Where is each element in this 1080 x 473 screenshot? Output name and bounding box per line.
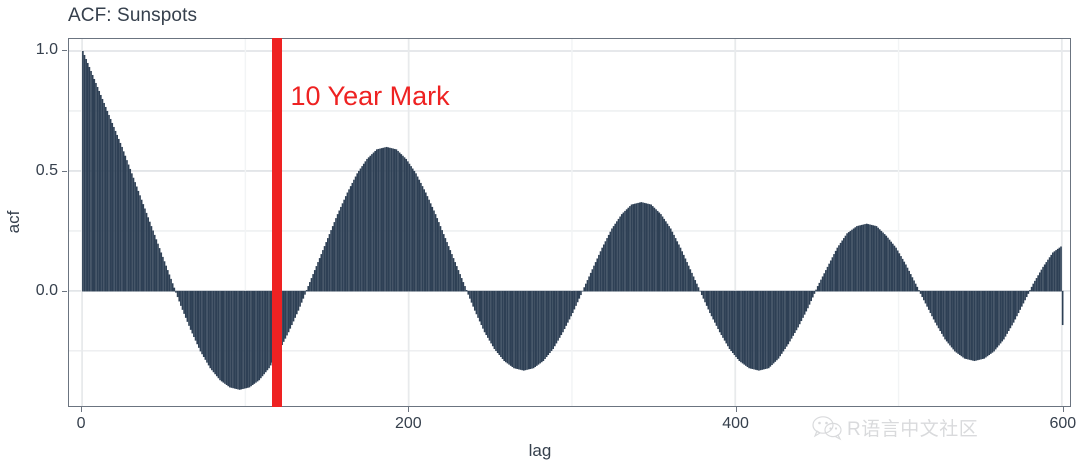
acf-bar (481, 291, 483, 325)
acf-bar (694, 280, 696, 291)
acf-bar (948, 291, 950, 344)
acf-bar (240, 291, 242, 390)
acf-bar (191, 291, 193, 334)
acf-bar (601, 248, 603, 292)
acf-bar (1057, 249, 1059, 292)
acf-bar (1047, 260, 1049, 292)
acf-bar (636, 203, 638, 291)
acf-bar (770, 291, 772, 367)
acf-bar (322, 250, 324, 291)
acf-bar (897, 250, 899, 291)
acf-bar (407, 161, 409, 291)
acf-bar (317, 262, 319, 291)
acf-bar (925, 291, 927, 304)
acf-bar (959, 291, 961, 355)
acf-bar (239, 291, 241, 390)
acf-bar (110, 119, 112, 292)
acf-bar (742, 291, 744, 364)
acf-bar (992, 291, 994, 353)
acf-bar (298, 291, 300, 311)
acf-bar (227, 291, 229, 386)
acf-bar (753, 291, 755, 370)
acf-bar (685, 258, 687, 291)
acf-bar (260, 291, 262, 378)
acf-bar (696, 284, 698, 292)
acf-bar (714, 291, 716, 323)
acf-bar (257, 291, 259, 382)
acf-bar (575, 291, 577, 306)
acf-bar (1037, 275, 1039, 291)
acf-bar (564, 291, 566, 329)
acf-bar (614, 224, 616, 292)
acf-bar (214, 291, 216, 374)
acf-bar (329, 234, 331, 291)
acf-bar (234, 291, 236, 389)
acf-bar (221, 291, 223, 382)
acf-bar (538, 291, 540, 365)
acf-bar (997, 291, 999, 348)
acf-bar (962, 291, 964, 358)
acf-bar (539, 291, 541, 364)
acf-bar (815, 290, 817, 292)
acf-bar (1032, 284, 1034, 292)
acf-bar (487, 291, 489, 338)
acf-bar (993, 291, 995, 352)
acf-bar (156, 239, 158, 291)
acf-bar (882, 232, 884, 291)
acf-bar (619, 217, 621, 292)
acf-bar (778, 291, 780, 359)
acf-bar (306, 290, 308, 291)
acf-bar (752, 291, 754, 369)
acf-bar (739, 291, 741, 361)
acf-bar (484, 291, 486, 332)
acf-bar (430, 203, 432, 291)
acf-bar (766, 291, 768, 369)
acf-bar (373, 153, 375, 292)
acf-bar (131, 173, 133, 291)
acf-bar (801, 291, 803, 321)
acf-bar (467, 291, 469, 295)
acf-bar (175, 291, 177, 293)
acf-bar (900, 256, 902, 291)
acf-bar (623, 213, 625, 292)
acf-bar (642, 203, 644, 292)
acf-bar (546, 291, 548, 357)
acf-bar (521, 291, 523, 370)
acf-bar (451, 254, 453, 291)
acf-bar (180, 291, 182, 306)
acf-bar (92, 75, 94, 291)
acf-bar (307, 286, 309, 291)
acf-bar (1042, 267, 1044, 292)
acf-bar (810, 291, 812, 301)
acf-bar (337, 214, 339, 291)
acf-bar (912, 277, 914, 291)
acf-bar (1014, 291, 1016, 320)
acf-bar (479, 291, 481, 322)
acf-bar (296, 291, 298, 314)
acf-bar (138, 191, 140, 292)
acf-bar (980, 291, 982, 360)
acf-bar (518, 291, 520, 370)
acf-bar (178, 291, 180, 302)
acf-bar (500, 291, 502, 357)
acf-bar (335, 218, 337, 291)
acf-bar (139, 195, 141, 291)
acf-bar (345, 196, 347, 291)
acf-bar (508, 291, 510, 365)
acf-bar (304, 291, 306, 295)
acf-bar (154, 235, 156, 292)
acf-bar (513, 291, 515, 368)
acf-bar (1028, 291, 1030, 294)
acf-bar (440, 226, 442, 291)
acf-bar (556, 291, 558, 344)
acf-bar (606, 238, 608, 291)
x-axis-label: lag (0, 441, 1080, 461)
acf-bar (97, 87, 99, 291)
acf-bar (804, 291, 806, 315)
acf-bar (242, 291, 244, 389)
acf-bar (957, 291, 959, 354)
acf-bar (725, 291, 727, 344)
acf-bar (355, 177, 357, 292)
acf-bar (409, 164, 411, 292)
acf-bar (549, 291, 551, 353)
acf-bar (807, 291, 809, 308)
acf-bar (529, 291, 531, 369)
acf-bar (979, 291, 981, 360)
acf-bar (658, 213, 660, 292)
acf-bar (441, 230, 443, 291)
acf-bar (835, 251, 837, 292)
acf-bar (889, 240, 891, 292)
acf-bar (583, 287, 585, 291)
acf-bar (899, 253, 901, 291)
acf-bar (185, 291, 187, 318)
acf-bar (360, 169, 362, 292)
acf-bar (629, 206, 631, 291)
acf-bar (907, 268, 909, 292)
acf-bar (1046, 262, 1048, 291)
acf-bar (177, 291, 179, 297)
acf-bar (303, 291, 305, 299)
acf-bar (471, 291, 473, 303)
acf-bar (445, 238, 447, 291)
acf-bar (1010, 291, 1012, 328)
acf-bar (289, 291, 291, 329)
acf-bar (763, 291, 765, 370)
acf-bar (492, 291, 494, 346)
acf-bar (352, 183, 354, 292)
acf-bar (1024, 291, 1026, 300)
acf-bar (805, 291, 807, 312)
acf-bar (498, 291, 500, 355)
acf-bar (771, 291, 773, 365)
acf-bar (427, 196, 429, 291)
acf-bar (596, 258, 598, 291)
acf-bar (765, 291, 767, 369)
acf-bar (423, 189, 425, 291)
acf-bar (190, 291, 192, 330)
acf-bar (1023, 291, 1025, 304)
acf-bar (663, 219, 665, 292)
acf-bar (320, 254, 322, 291)
acf-bar (939, 291, 941, 331)
acf-bar (201, 291, 203, 354)
acf-bar (951, 291, 953, 348)
acf-bar (1052, 252, 1054, 291)
acf-bar (1003, 291, 1005, 340)
acf-bar (1029, 290, 1031, 291)
acf-bar (448, 246, 450, 291)
acf-bar (1005, 291, 1007, 337)
acf-bar (205, 291, 207, 360)
acf-bar (348, 189, 350, 291)
acf-bar (787, 291, 789, 344)
acf-bar (115, 131, 117, 292)
acf-bar (505, 291, 507, 362)
acf-bar (435, 214, 437, 291)
acf-bar (420, 183, 422, 292)
acf-bar (219, 291, 221, 380)
acf-bar (931, 291, 933, 316)
acf-bar (964, 291, 966, 359)
acf-bar (415, 173, 417, 291)
acf-bar (655, 209, 657, 291)
acf-bar (250, 291, 252, 386)
plot-area (69, 39, 1070, 406)
acf-bar (678, 244, 680, 291)
acf-bar (949, 291, 951, 346)
acf-bar (369, 156, 371, 292)
acf-bar (384, 147, 386, 291)
acf-bar (391, 148, 393, 291)
x-tick-label: 0 (41, 415, 121, 433)
acf-bar (707, 291, 709, 310)
acf-bar (236, 291, 238, 389)
acf-bar (876, 226, 878, 291)
acf-bar (129, 169, 131, 292)
acf-bar (347, 193, 349, 292)
acf-bar (1044, 264, 1046, 291)
acf-bar (314, 270, 316, 291)
acf-bar (108, 115, 110, 292)
acf-bar (533, 291, 535, 368)
acf-bar (245, 291, 247, 388)
acf-bar (836, 248, 838, 292)
acf-bar (229, 291, 231, 388)
acf-bar (188, 291, 190, 326)
acf-bar (1054, 251, 1056, 291)
acf-bar (887, 238, 889, 292)
acf-bar (428, 200, 430, 292)
acf-bar (489, 291, 491, 341)
acf-bar (915, 284, 917, 292)
acf-bar (874, 226, 876, 292)
acf-bar (466, 290, 468, 291)
acf-bar (783, 291, 785, 352)
acf-bar (510, 291, 512, 366)
acf-bar (841, 240, 843, 291)
acf-bar (523, 291, 525, 371)
acf-bar (776, 291, 778, 360)
acf-bar (404, 157, 406, 291)
acf-bar (827, 267, 829, 292)
acf-bar (923, 291, 925, 300)
acf-bar (590, 273, 592, 292)
ten-year-mark-line (272, 38, 282, 407)
acf-bar (299, 291, 301, 307)
acf-bar (544, 291, 546, 359)
acf-bar (812, 291, 814, 298)
acf-bar (866, 224, 868, 292)
acf-bar (610, 232, 612, 292)
acf-bar (249, 291, 251, 388)
acf-bar (396, 149, 398, 291)
acf-bar (872, 225, 874, 291)
acf-bar (394, 149, 396, 292)
acf-bar (673, 235, 675, 292)
acf-bar (649, 204, 651, 291)
acf-bar (721, 291, 723, 335)
acf-bar (885, 236, 887, 292)
acf-bar (84, 55, 86, 291)
acf-bar (908, 271, 910, 292)
x-tick-label: 400 (696, 415, 776, 433)
acf-bar (343, 200, 345, 292)
acf-bar (921, 291, 923, 297)
acf-bar (750, 291, 752, 369)
acf-bar (325, 242, 327, 291)
acf-bar (983, 291, 985, 359)
acf-bar (631, 205, 633, 292)
acf-bar (748, 291, 750, 368)
acf-bar (216, 291, 218, 376)
acf-bar (453, 258, 455, 291)
acf-bar (551, 291, 553, 351)
acf-bar (969, 291, 971, 360)
acf-bar (936, 291, 938, 326)
acf-bar (830, 260, 832, 291)
acf-bar (820, 280, 822, 292)
acf-bar (667, 224, 669, 292)
acf-bar (516, 291, 518, 369)
acf-bar (98, 91, 100, 291)
acf-bar (1039, 272, 1041, 291)
acf-bar (316, 266, 318, 291)
acf-bar (1013, 291, 1015, 323)
acf-bar (164, 261, 166, 291)
acf-bar (1026, 291, 1028, 297)
acf-bar (719, 291, 721, 332)
acf-bar (503, 291, 505, 361)
acf-bar (433, 211, 435, 292)
acf-bar (196, 291, 198, 344)
acf-bar (1018, 291, 1020, 313)
x-tick-mark (81, 407, 82, 412)
acf-bar (869, 224, 871, 291)
acf-bar (141, 200, 143, 292)
acf-bar (301, 291, 303, 303)
acf-bar (832, 257, 834, 291)
acf-bar (758, 291, 760, 371)
acf-bar (933, 291, 935, 320)
acf-bar (632, 204, 634, 291)
acf-bar (113, 127, 115, 292)
acf-bar (82, 51, 84, 291)
acf-bar (791, 291, 793, 339)
acf-bar (647, 204, 649, 292)
acf-bar (111, 123, 113, 292)
acf-bar (819, 283, 821, 292)
acf-bar (952, 291, 954, 350)
acf-bar (270, 291, 272, 366)
acf-bar (105, 107, 107, 291)
acf-bar (691, 273, 693, 292)
acf-bars (82, 51, 1063, 390)
acf-bar (716, 291, 718, 326)
acf-bar (87, 63, 89, 291)
acf-bar (822, 276, 824, 291)
acf-bar (779, 291, 781, 356)
acf-bar (703, 291, 705, 299)
acf-bar (231, 291, 233, 388)
acf-bar (743, 291, 745, 365)
acf-bar (657, 211, 659, 292)
acf-bar (756, 291, 758, 370)
acf-bar (565, 291, 567, 326)
acf-bar (438, 222, 440, 291)
acf-bar (587, 280, 589, 291)
acf-bar (146, 213, 148, 292)
acf-bar (376, 149, 378, 291)
acf-bar (654, 208, 656, 292)
acf-bar (817, 286, 819, 291)
acf-bar (577, 291, 579, 302)
acf-bar (324, 246, 326, 291)
acf-bar (605, 241, 607, 291)
acf-bar (934, 291, 936, 323)
acf-bar (868, 224, 870, 291)
acf-bar (525, 291, 527, 370)
acf-bar (627, 208, 629, 292)
acf-bar (103, 103, 105, 291)
acf-bar (693, 276, 695, 291)
acf-bar (365, 161, 367, 291)
acf-bar (208, 291, 210, 366)
acf-bar (734, 291, 736, 355)
acf-bar (312, 274, 314, 291)
acf-bar (930, 291, 932, 313)
acf-bar (392, 149, 394, 292)
acf-bar (162, 257, 164, 292)
acf-bar (995, 291, 997, 350)
acf-bar (286, 291, 288, 336)
acf-bar (802, 291, 804, 318)
acf-bar (222, 291, 224, 383)
acf-bar (418, 180, 420, 292)
acf-bar (255, 291, 257, 383)
acf-bar (668, 226, 670, 291)
acf-bar (142, 204, 144, 291)
x-tick-mark (408, 407, 409, 412)
acf-bar (258, 291, 260, 380)
acf-bar (432, 207, 434, 292)
acf-bar (456, 266, 458, 291)
acf-bar (582, 291, 584, 292)
